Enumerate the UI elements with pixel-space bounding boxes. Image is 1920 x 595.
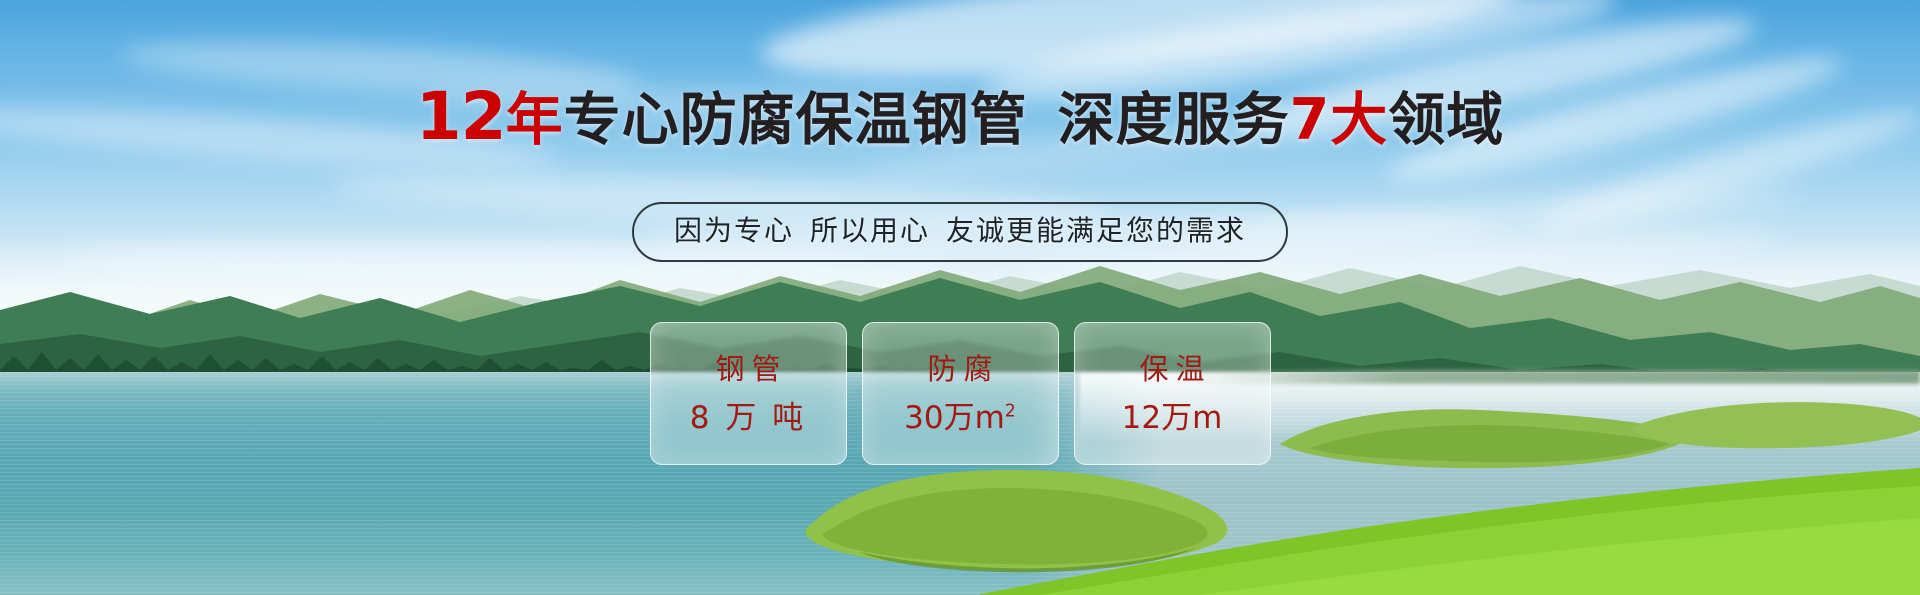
stat-card-label: 防腐 [920,354,999,384]
stats-card-group: 钢管 8 万 吨 防腐 30万m2 保温 12万m [0,322,1920,465]
headline-years-suffix: 年 [506,87,564,153]
stat-card-label: 钢管 [708,354,787,384]
headline-service-suffix: 领域 [1388,87,1504,153]
subtitle-pill: 因为专心所以用心友诚更能满足您的需求 [632,202,1288,262]
stat-card-label: 保温 [1132,354,1211,384]
headline-years-number: 12 [416,78,506,155]
headline: 12年专心防腐保温钢管深度服务7大领域 [0,84,1920,153]
headline-service-prefix: 深度服务 [1058,87,1290,153]
stat-card-unit-exponent: 2 [1005,401,1016,421]
stat-card-value: 30万m2 [904,402,1016,434]
subtitle-part-2: 所以用心 [810,214,930,247]
headline-service-count: 7大 [1290,87,1389,153]
headline-main-text: 专心防腐保温钢管 [564,87,1028,153]
stat-card-anticorrosion[interactable]: 防腐 30万m2 [862,322,1059,465]
stat-card-insulation[interactable]: 保温 12万m [1074,322,1271,465]
subtitle-container: 因为专心所以用心友诚更能满足您的需求 [0,202,1920,262]
stat-card-value: 8 万 吨 [690,402,806,434]
subtitle-part-3: 友诚更能满足您的需求 [946,214,1246,247]
banner-content: 12年专心防腐保温钢管深度服务7大领域 因为专心所以用心友诚更能满足您的需求 钢… [0,0,1920,595]
stat-card-value: 12万m [1122,402,1223,434]
stat-card-steel-pipe[interactable]: 钢管 8 万 吨 [650,322,847,465]
promo-banner: 12年专心防腐保温钢管深度服务7大领域 因为专心所以用心友诚更能满足您的需求 钢… [0,0,1920,595]
subtitle-part-1: 因为专心 [674,214,794,247]
